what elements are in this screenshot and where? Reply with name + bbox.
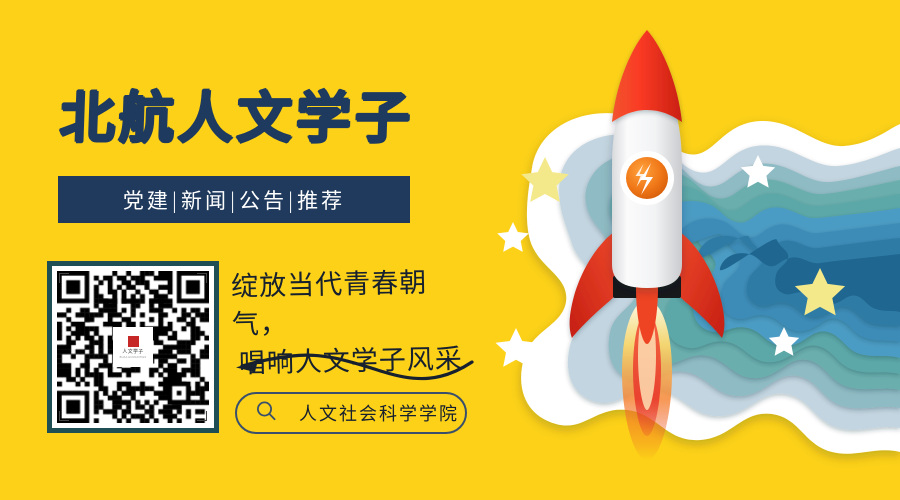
qr-logo-mark-icon: [128, 336, 139, 347]
promo-banner: 北航人文学子 党建|新闻|公告|推荐 人文学子 BUAA HUMANITIES …: [0, 0, 900, 500]
star-white-upper: [497, 222, 529, 252]
qr-center-logo: 人文学子 BUAA HUMANITIES: [113, 327, 153, 367]
search-icon: [255, 400, 277, 427]
rocket-nose-cone: [612, 30, 682, 122]
college-search-pill[interactable]: 人文社会科学学院: [235, 392, 467, 434]
qr-corner-bottom-left-icon: [59, 411, 69, 421]
page-title: 北航人文学子: [59, 86, 415, 151]
qr-corner-top-left-icon: [59, 273, 69, 283]
qr-code-inner: 人文学子 BUAA HUMANITIES: [57, 271, 209, 423]
qr-corner-top-right-icon: [197, 273, 207, 283]
qr-corner-bottom-right-icon: [197, 411, 207, 421]
college-name-label: 人文社会科学学院: [299, 400, 459, 426]
category-bar: 党建|新闻|公告|推荐: [58, 176, 410, 223]
qr-logo-sub: BUAA HUMANITIES: [120, 356, 147, 359]
slogan-line-1: 绽放当代青春朝气，: [231, 268, 428, 341]
category-bar-label: 党建|新闻|公告|推荐: [123, 185, 345, 215]
rocket-window: [620, 151, 674, 205]
qr-logo-name: 人文学子: [122, 348, 143, 355]
wavy-left-arrow-icon: [228, 348, 476, 382]
qr-code[interactable]: 人文学子 BUAA HUMANITIES: [47, 261, 219, 433]
rocket-illustration: [420, 0, 900, 500]
